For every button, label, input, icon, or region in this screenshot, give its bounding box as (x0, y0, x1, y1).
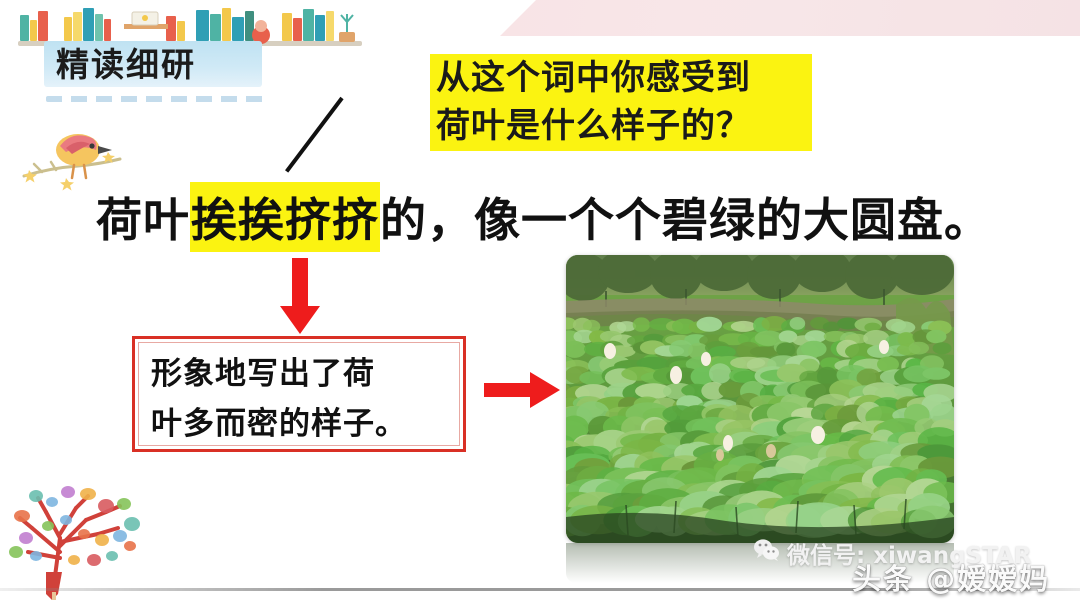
pencil-tree-icon (2, 472, 152, 600)
callout-line-1: 从这个词中你感受到 (430, 54, 812, 102)
sentence-highlight: 挨挨挤挤 (190, 182, 380, 252)
wechat-icon (754, 539, 780, 567)
explanation-inner: 形象地写出了荷 叶多而密的样子。 (138, 342, 460, 446)
explanation-line-1: 形象地写出了荷 (151, 349, 447, 399)
main-sentence: 荷叶挨挨挤挤的，像一个个碧绿的大圆盘。 (96, 186, 991, 248)
page-title: 精读细研 (56, 44, 256, 86)
arrow-right-icon (484, 368, 562, 412)
toutiao-watermark: 头条 @嫒嫒妈 (852, 556, 1050, 598)
title-dashed-underline (46, 96, 268, 102)
arrow-down-icon (272, 258, 328, 336)
pointer-line (285, 97, 344, 173)
question-callout: 从这个词中你感受到 荷叶是什么样子的？ (430, 54, 812, 151)
sentence-after: 的，像一个个碧绿的大圆盘。 (380, 184, 991, 250)
slide-canvas: 精读细研 从这个词中你感受到 荷叶是什么样子的？ 荷叶挨挨挤挤的，像一个个碧绿的… (0, 0, 1080, 608)
explanation-line-2: 叶多而密的样子。 (151, 399, 447, 449)
pink-banner-decoration (500, 0, 1080, 40)
bird-icon (20, 126, 130, 192)
sentence-before: 荷叶 (96, 184, 190, 250)
lotus-pond-photo (566, 255, 954, 543)
callout-line-2: 荷叶是什么样子的？ (430, 102, 812, 150)
explanation-box: 形象地写出了荷 叶多而密的样子。 (132, 336, 466, 452)
